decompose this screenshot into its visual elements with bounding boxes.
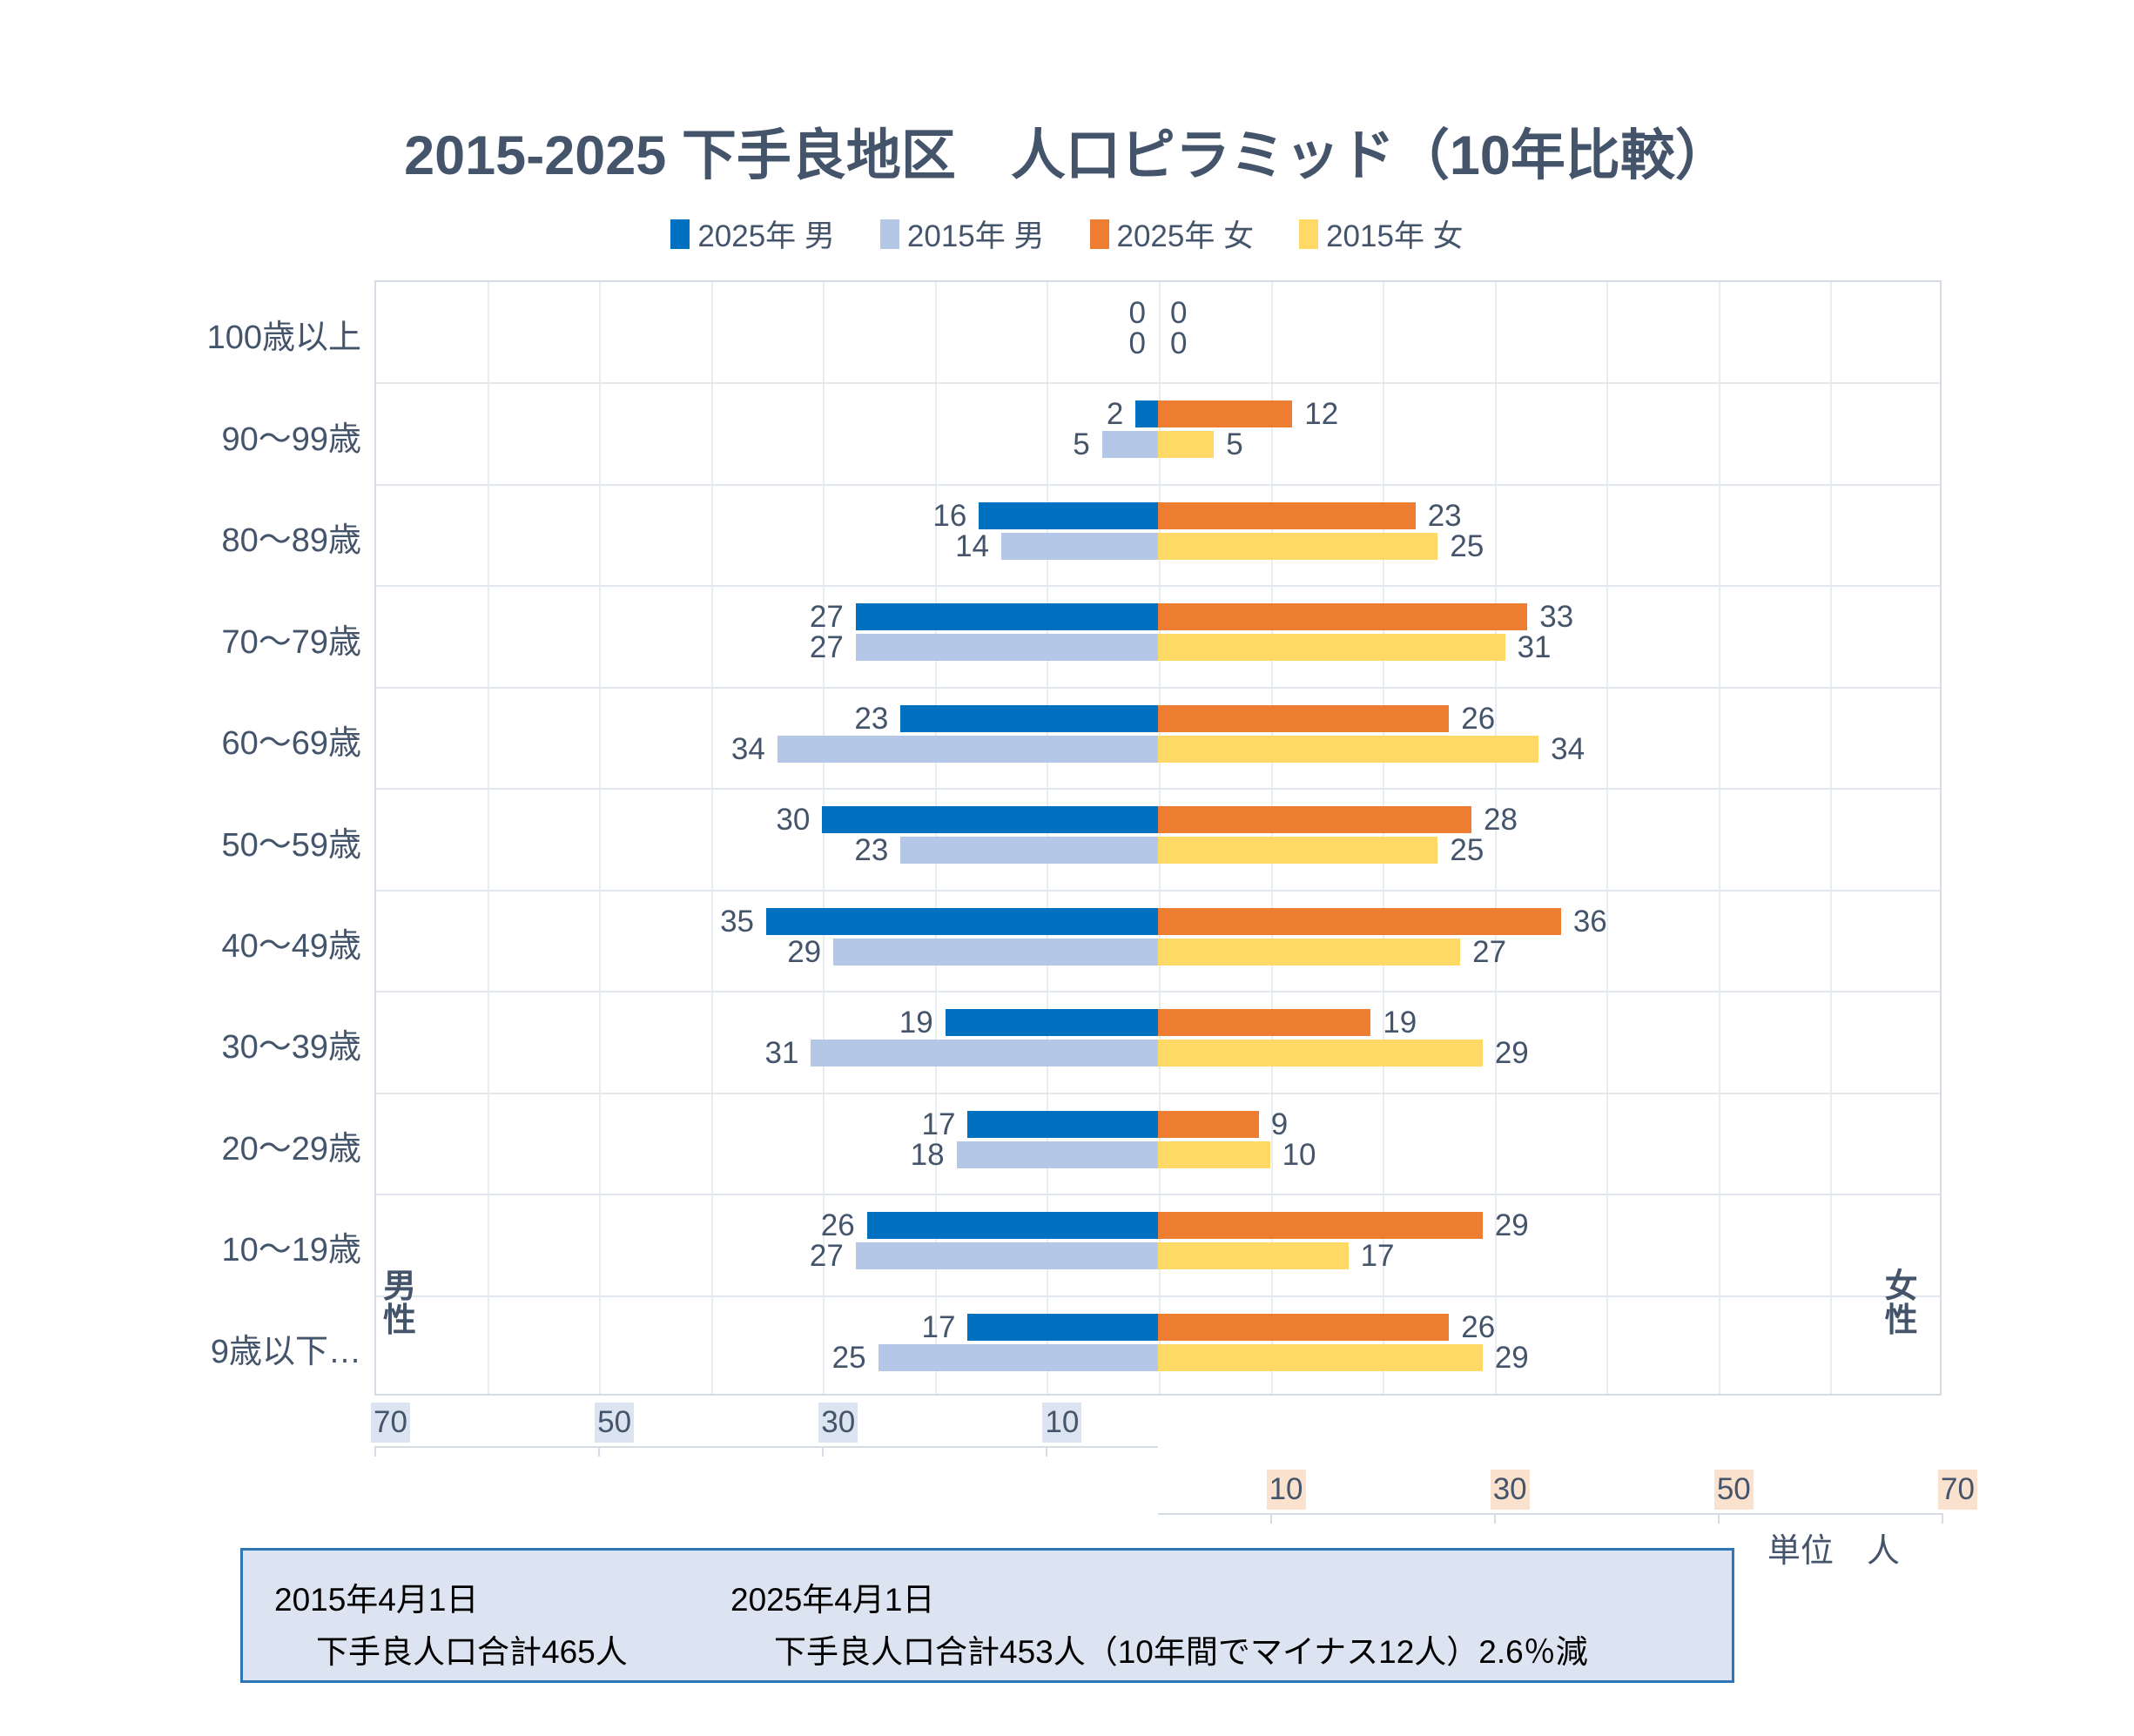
bar-male-2025[interactable]: [967, 1314, 1158, 1341]
legend-swatch-icon: [1299, 219, 1318, 249]
chart-row: 30232825: [376, 789, 1940, 890]
data-label: 17: [922, 1109, 956, 1140]
chart-row: 17252629: [376, 1296, 1940, 1397]
summary-2015-date: 2015年4月1日: [274, 1573, 478, 1620]
y-axis-label: 10〜19歳: [74, 1222, 361, 1270]
y-axis-label: 100歳以上: [74, 310, 361, 358]
bar-female-2015[interactable]: [1158, 939, 1460, 966]
bar-male-2015[interactable]: [1102, 431, 1158, 458]
bar-female-2015[interactable]: [1158, 837, 1437, 864]
data-label: 23: [854, 703, 888, 734]
y-axis-label: 50〜59歳: [74, 818, 361, 865]
bar-female-2025[interactable]: [1158, 1009, 1370, 1036]
chart-row: 23342634: [376, 688, 1940, 789]
data-label: 17: [922, 1312, 956, 1342]
bar-male-2025[interactable]: [1135, 400, 1158, 427]
chart-row: 25125: [376, 383, 1940, 484]
x-axis-tick: [598, 1446, 600, 1457]
y-axis-label: 40〜49歳: [74, 918, 361, 966]
data-label: 29: [1495, 1342, 1529, 1373]
bar-male-2025[interactable]: [856, 603, 1158, 630]
x-axis-left: 70503010: [374, 1397, 1158, 1462]
bar-female-2015[interactable]: [1158, 1141, 1270, 1168]
y-axis-label: 60〜69歳: [74, 716, 361, 764]
data-label: 0: [1129, 328, 1146, 359]
x-axis-tick: [1494, 1513, 1496, 1524]
data-label: 31: [765, 1038, 799, 1068]
x-axis-tick: [1942, 1513, 1943, 1524]
data-label: 27: [1472, 937, 1506, 967]
chart-row: 16142325: [376, 485, 1940, 586]
x-axis-tick-label: 10: [1042, 1403, 1081, 1443]
bar-female-2025[interactable]: [1158, 1111, 1259, 1138]
data-label: 25: [1450, 531, 1484, 562]
data-label: 34: [731, 734, 765, 764]
legend-label: 2025年 男: [697, 212, 835, 256]
bar-female-2015[interactable]: [1158, 1040, 1483, 1066]
bar-male-2025[interactable]: [867, 1212, 1158, 1239]
data-label: 0: [1170, 298, 1187, 328]
summary-2015-total: 下手良人口合計465人: [316, 1625, 628, 1672]
data-label: 5: [1073, 429, 1089, 460]
bar-female-2015[interactable]: [1158, 533, 1437, 560]
chart-row: 0000: [376, 282, 1940, 383]
population-pyramid-chart: 2015-2025 下手良地区 人口ピラミッド（10年比較） 2025年 男20…: [0, 0, 2134, 1736]
data-label: 0: [1129, 298, 1146, 328]
data-label: 27: [810, 1241, 844, 1271]
chart-row: 26272917: [376, 1194, 1940, 1295]
data-label: 25: [1450, 835, 1484, 865]
x-axis-tick: [1270, 1513, 1272, 1524]
y-axis-label: 9歳以下…: [74, 1324, 361, 1372]
bar-male-2025[interactable]: [967, 1111, 1158, 1138]
bar-female-2025[interactable]: [1158, 1314, 1449, 1341]
data-label: 28: [1484, 804, 1518, 835]
data-label: 36: [1573, 906, 1607, 937]
plot-area: 0000251251614232527273331233426343023282…: [374, 280, 1942, 1396]
x-axis-right-line: [1158, 1513, 1942, 1515]
chart-row: 19311929: [376, 992, 1940, 1093]
x-axis-tick-label: 30: [818, 1403, 858, 1443]
chart-row: 1718910: [376, 1093, 1940, 1194]
female-side-label: 女性: [1885, 1270, 1928, 1338]
data-label: 27: [810, 632, 844, 663]
summary-2025-date: 2025年4月1日: [730, 1573, 934, 1620]
x-axis-tick-label: 50: [1714, 1470, 1754, 1510]
legend-swatch-icon: [670, 219, 690, 249]
bar-female-2025[interactable]: [1158, 603, 1527, 630]
legend-label: 2015年 男: [907, 212, 1045, 256]
data-label: 29: [787, 937, 821, 967]
data-label: 12: [1304, 399, 1338, 429]
data-label: 30: [776, 804, 810, 835]
chart-legend: 2025年 男2015年 男2025年 女2015年 女: [0, 212, 2134, 256]
x-axis-tick: [1046, 1446, 1047, 1457]
bar-male-2015[interactable]: [879, 1344, 1158, 1371]
bar-female-2025[interactable]: [1158, 705, 1449, 732]
unit-label: 単位 人: [1767, 1524, 1900, 1571]
x-axis-tick-label: 30: [1491, 1470, 1530, 1510]
summary-2025-total: 下手良人口合計453人（10年間でマイナス12人）2.6％減: [774, 1625, 1588, 1672]
x-axis-tick: [822, 1446, 824, 1457]
data-label: 5: [1226, 429, 1242, 460]
x-axis-tick: [374, 1446, 376, 1457]
data-label: 29: [1495, 1210, 1529, 1241]
bar-male-2025[interactable]: [900, 705, 1158, 732]
bar-male-2015[interactable]: [856, 1242, 1158, 1269]
x-axis-tick-label: 70: [1938, 1470, 1977, 1510]
legend-label: 2015年 女: [1326, 212, 1464, 256]
data-label: 27: [810, 602, 844, 632]
legend-label: 2025年 女: [1117, 212, 1255, 256]
bar-male-2025[interactable]: [946, 1009, 1158, 1036]
bar-male-2015[interactable]: [833, 939, 1158, 966]
data-label: 14: [955, 531, 989, 562]
bar-female-2025[interactable]: [1158, 1212, 1483, 1239]
y-axis-label: 90〜99歳: [74, 412, 361, 460]
bar-female-2015[interactable]: [1158, 736, 1538, 763]
male-side-label: 男性: [383, 1270, 426, 1338]
data-label: 16: [932, 501, 966, 531]
data-label: 19: [1383, 1007, 1417, 1038]
y-axis-label: 30〜39歳: [74, 1019, 361, 1067]
legend-item-0[interactable]: 2025年 男: [670, 212, 835, 256]
x-axis-tick-label: 10: [1267, 1470, 1306, 1510]
bar-male-2015[interactable]: [900, 837, 1158, 864]
bar-female-2025[interactable]: [1158, 502, 1416, 529]
bar-female-2025[interactable]: [1158, 806, 1471, 833]
data-label: 23: [1428, 501, 1462, 531]
summary-box: 2015年4月1日 2025年4月1日 下手良人口合計465人 下手良人口合計4…: [240, 1548, 1734, 1683]
data-label: 2: [1107, 399, 1123, 429]
bar-female-2015[interactable]: [1158, 1344, 1483, 1371]
bar-female-2025[interactable]: [1158, 400, 1292, 427]
y-axis-label: 80〜89歳: [74, 513, 361, 561]
bar-female-2025[interactable]: [1158, 908, 1561, 935]
data-label: 18: [911, 1140, 945, 1170]
data-label: 26: [821, 1210, 855, 1241]
legend-swatch-icon: [880, 219, 899, 249]
bar-male-2015[interactable]: [1001, 533, 1158, 560]
bar-male-2025[interactable]: [979, 502, 1158, 529]
data-label: 19: [899, 1007, 933, 1038]
legend-item-2[interactable]: 2025年 女: [1090, 212, 1255, 256]
legend-item-1[interactable]: 2015年 男: [880, 212, 1045, 256]
data-label: 29: [1495, 1038, 1529, 1068]
legend-item-3[interactable]: 2015年 女: [1299, 212, 1464, 256]
bar-male-2025[interactable]: [766, 908, 1158, 935]
data-label: 31: [1518, 632, 1552, 663]
bar-male-2015[interactable]: [811, 1040, 1158, 1066]
data-label: 26: [1461, 1312, 1495, 1342]
data-label: 9: [1271, 1109, 1288, 1140]
bar-male-2015[interactable]: [778, 736, 1158, 763]
data-label: 34: [1551, 734, 1585, 764]
data-label: 25: [832, 1342, 866, 1373]
chart-row: 27273331: [376, 586, 1940, 687]
chart-row: 35293627: [376, 891, 1940, 992]
data-label: 35: [720, 906, 754, 937]
bar-female-2015[interactable]: [1158, 1242, 1349, 1269]
bar-female-2015[interactable]: [1158, 431, 1214, 458]
data-label: 26: [1461, 703, 1495, 734]
data-label: 33: [1539, 602, 1573, 632]
bar-male-2025[interactable]: [822, 806, 1158, 833]
data-label: 10: [1282, 1140, 1316, 1170]
x-axis-right: 10305070: [1158, 1464, 1942, 1529]
x-axis-tick-label: 50: [595, 1403, 634, 1443]
x-axis-tick: [1718, 1513, 1720, 1524]
bar-female-2015[interactable]: [1158, 634, 1505, 661]
y-axis-label: 20〜29歳: [74, 1121, 361, 1169]
legend-swatch-icon: [1090, 219, 1109, 249]
data-label: 23: [854, 835, 888, 865]
chart-title: 2015-2025 下手良地区 人口ピラミッド（10年比較）: [0, 111, 2134, 191]
x-axis-left-line: [374, 1446, 1158, 1448]
bar-male-2015[interactable]: [957, 1141, 1158, 1168]
data-label: 17: [1361, 1241, 1395, 1271]
data-label: 0: [1170, 328, 1187, 359]
x-axis-tick-label: 70: [371, 1403, 410, 1443]
bar-male-2015[interactable]: [856, 634, 1158, 661]
y-axis-label: 70〜79歳: [74, 615, 361, 663]
